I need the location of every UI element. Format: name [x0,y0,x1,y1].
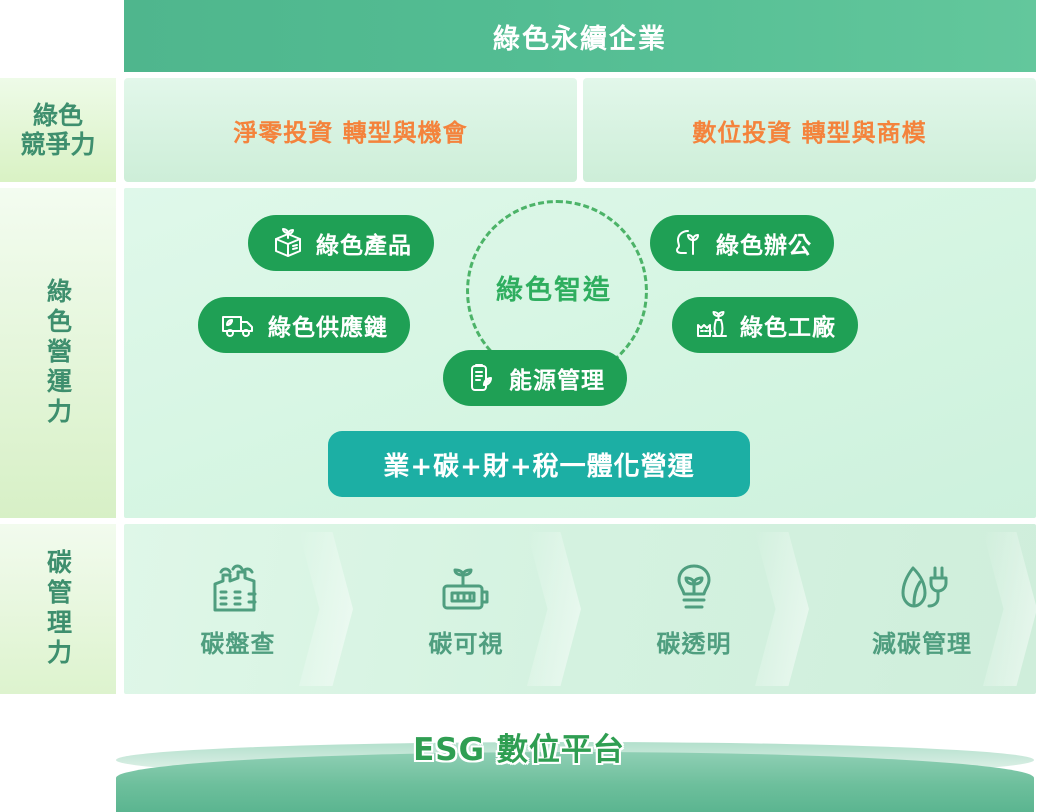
rail-green-operations: 綠色營運力 [0,188,116,518]
battery-leaf-icon [465,361,499,395]
carbon-step-label: 減碳管理 [872,624,972,659]
operations-core-label: 綠色智造 [466,268,642,307]
competitiveness-card-digital[interactable]: 數位投資 轉型與商模 [583,78,1036,182]
box-sprout-icon [270,225,306,261]
carbon-management-panel: 碳盤查 碳可視 [124,524,1036,694]
pill-label: 綠色辦公 [716,226,812,260]
pill-label: 綠色產品 [316,226,412,260]
carbon-step-label: 碳透明 [657,624,732,659]
page-title: 綠色永續企業 [493,17,667,56]
pill-green-product[interactable]: 綠色產品 [248,215,434,271]
top-banner: 綠色永續企業 [124,0,1036,72]
pill-energy-management[interactable]: 能源管理 [443,350,627,406]
battery-plant-icon [435,560,497,616]
integrated-operations-label: 業+碳+財+稅一體化營運 [383,446,694,483]
competitiveness-card-net-zero[interactable]: 淨零投資 轉型與機會 [124,78,577,182]
rail-carbon-management: 碳管理力 [0,524,116,694]
bulb-leaf-icon [663,560,725,616]
rail-label-carbon: 碳管理力 [46,549,71,669]
rail-label-operations: 綠色營運力 [46,278,71,428]
competitiveness-card-label: 數位投資 轉型與商模 [692,113,926,148]
pill-green-office[interactable]: 綠色辦公 [650,215,834,271]
carbon-step-inventory[interactable]: 碳盤查 [124,524,352,694]
diagram-canvas: 綠色永續企業 綠色 競爭力 綠色營運力 碳管理力 淨零投資 轉型與機會 數位投資… [0,0,1038,812]
pill-label: 綠色工廠 [740,308,836,342]
platform-title: ESG 數位平台 [0,724,1038,769]
carbon-step-visibility[interactable]: 碳可視 [352,524,580,694]
carbon-step-reduction[interactable]: 減碳管理 [808,524,1036,694]
rail-label-line-1: 綠色 [20,101,95,131]
rail-label-competitiveness: 綠色 競爭力 [20,101,95,160]
carbon-step-label: 碳可視 [429,624,504,659]
leaf-plug-icon [891,560,953,616]
factory-sprout-icon [694,308,730,342]
pill-label: 能源管理 [509,361,605,395]
head-plant-icon [672,226,706,260]
carbon-step-transparency[interactable]: 碳透明 [580,524,808,694]
integrated-operations-bar[interactable]: 業+碳+財+稅一體化營運 [328,431,750,497]
truck-leaf-icon [220,307,258,343]
factory-smoke-icon [207,560,269,616]
competitiveness-row: 淨零投資 轉型與機會 數位投資 轉型與商模 [124,78,1036,182]
pill-green-supply-chain[interactable]: 綠色供應鏈 [198,297,410,353]
carbon-step-label: 碳盤查 [201,624,276,659]
competitiveness-card-label: 淨零投資 轉型與機會 [233,113,467,148]
carbon-steps: 碳盤查 碳可視 [124,524,1036,694]
pill-green-factory[interactable]: 綠色工廠 [672,297,858,353]
pill-label: 綠色供應鏈 [268,308,388,342]
rail-green-competitiveness: 綠色 競爭力 [0,78,116,182]
rail-label-line-2: 競爭力 [20,130,95,160]
